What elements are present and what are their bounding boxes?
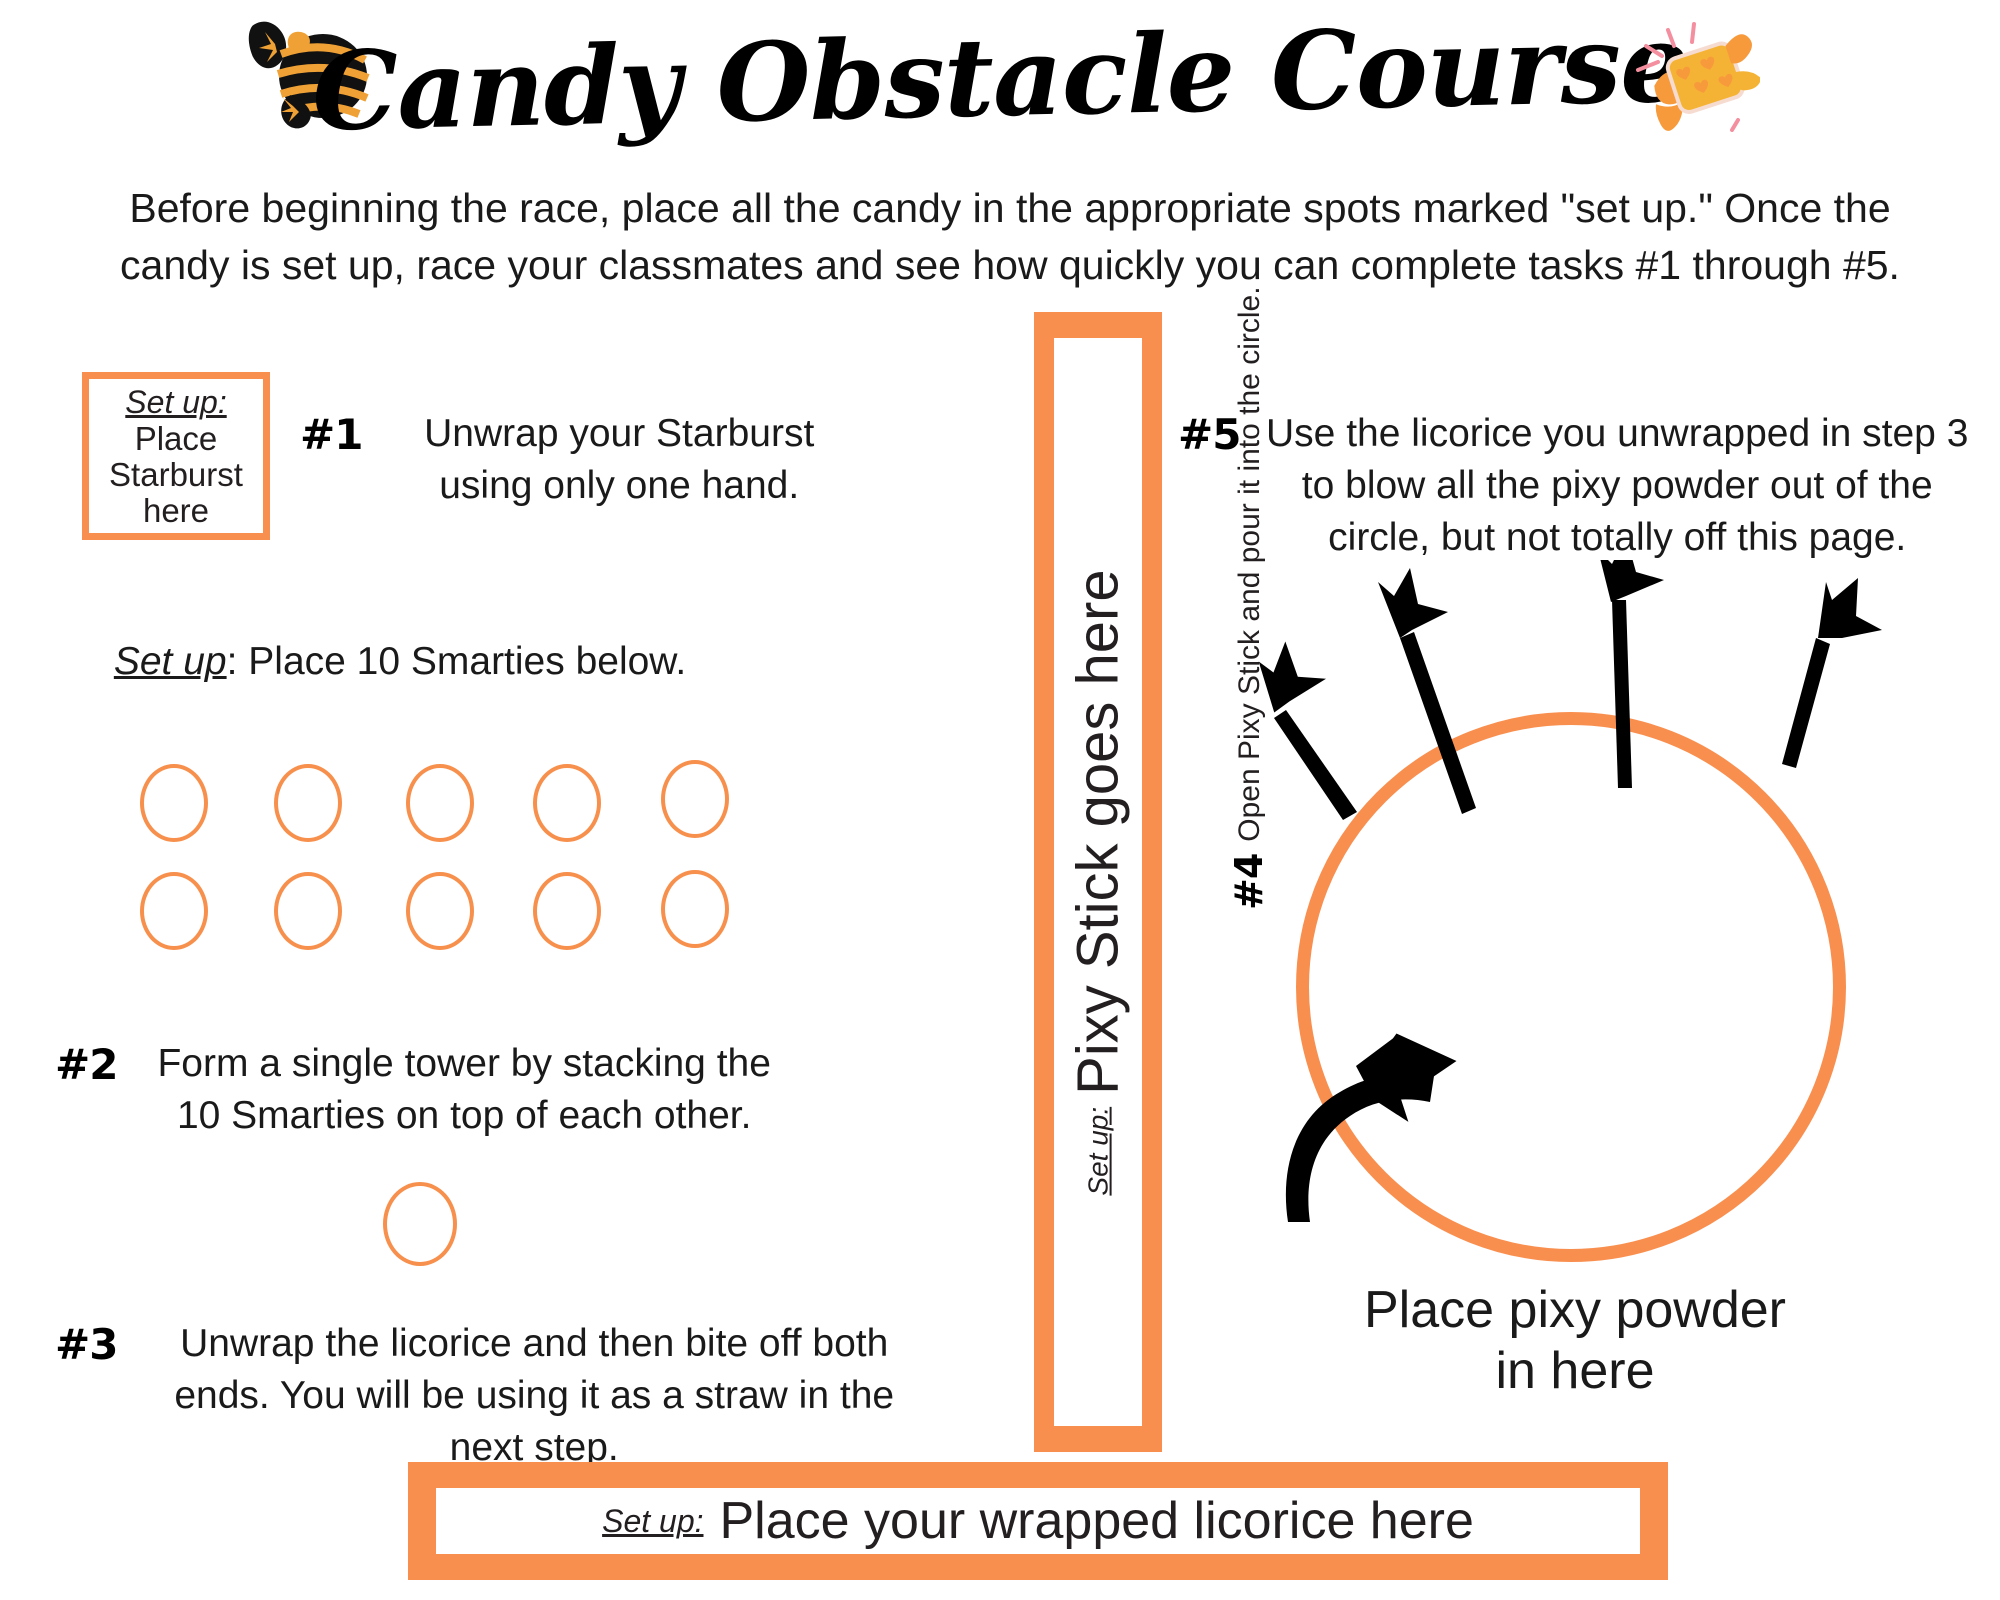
setup-text-licorice: Place your wrapped licorice here — [720, 1491, 1474, 1551]
smartie-slot — [406, 764, 474, 842]
step-5-number: #5 — [1178, 408, 1240, 463]
step-1-number: #1 — [300, 408, 362, 463]
smartie-slot — [140, 764, 208, 842]
step-2-number: #2 — [55, 1038, 117, 1093]
step-1-text: Unwrap your Starburst using only one han… — [362, 408, 860, 512]
smartie-slot — [533, 872, 601, 950]
setup-box-starburst: Set up: Place Starburst here — [82, 372, 270, 540]
smartie-tower-slot — [383, 1182, 457, 1266]
sparkling-candy-icon — [1620, 12, 1760, 132]
setup-box-licorice: Set up:Place your wrapped licorice here — [408, 1462, 1668, 1580]
setup-box-pixy-stick: Set up:Pixy Stick goes here — [1034, 312, 1162, 1452]
setup-box-pixy-stick-inner: Set up:Pixy Stick goes here — [1054, 338, 1142, 1426]
pixy-powder-label-line2: in here — [1240, 1341, 1910, 1402]
setup-label-pixy-stick: Set up: — [1082, 1106, 1113, 1195]
blow-out-arrows — [1230, 560, 2000, 980]
setup-label-licorice: Set up: — [602, 1503, 703, 1540]
setup-text-smarties: : Place 10 Smarties below. — [227, 640, 687, 683]
setup-label-smarties: Set up: Place 10 Smarties below. — [60, 640, 740, 684]
smartie-slot — [274, 764, 342, 842]
step-5: #5 Use the licorice you unwrapped in ste… — [1178, 408, 1978, 564]
step-5-text: Use the licorice you unwrapped in step 3… — [1240, 408, 1978, 564]
smartie-slot — [533, 764, 601, 842]
intro-paragraph: Before beginning the race, place all the… — [70, 180, 1950, 293]
smartie-slot — [274, 872, 342, 950]
worksheet-page: Candy Obstacle Course — [0, 0, 2000, 1600]
setup-text-pixy-stick: Pixy Stick goes here — [1066, 569, 1131, 1094]
pixy-powder-label-line1: Place pixy powder — [1240, 1280, 1910, 1341]
step-2: #2 Form a single tower by stacking the 1… — [55, 1038, 795, 1142]
setup-label-starburst: Set up: — [125, 385, 226, 421]
smartie-slot — [661, 760, 729, 838]
step-3-text: Unwrap the licorice and then bite off bo… — [117, 1318, 935, 1474]
setup-label-smarties-italic: Set up — [114, 640, 227, 683]
step-3-number: #3 — [55, 1318, 117, 1373]
pixy-powder-label: Place pixy powder in here — [1240, 1280, 1910, 1403]
step-2-text: Form a single tower by stacking the 10 S… — [117, 1038, 795, 1142]
step-3: #3 Unwrap the licorice and then bite off… — [55, 1318, 935, 1474]
curved-in-arrow-icon — [1270, 1010, 1500, 1240]
smartie-slot — [661, 870, 729, 948]
setup-text-starburst: Place Starburst here — [89, 421, 263, 530]
step-1: #1 Unwrap your Starburst using only one … — [300, 408, 860, 512]
page-title: Candy Obstacle Course — [399, 0, 1602, 161]
smartie-slot — [140, 872, 208, 950]
setup-box-licorice-inner: Set up:Place your wrapped licorice here — [436, 1488, 1640, 1554]
smartie-slot — [406, 872, 474, 950]
page-header: Candy Obstacle Course — [0, 0, 2000, 160]
setup-text-pixy-stick-wrap: Set up:Pixy Stick goes here — [1065, 569, 1132, 1195]
